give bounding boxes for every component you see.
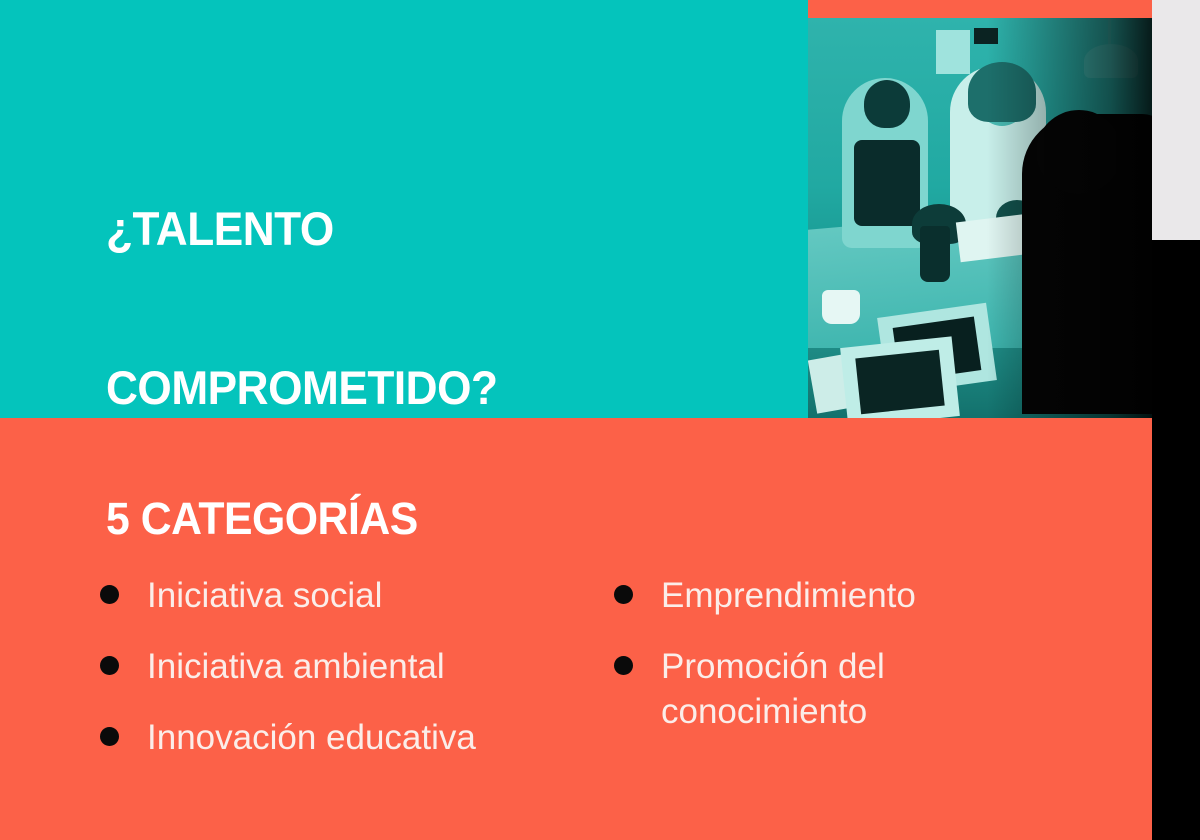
photo-vignette: [808, 18, 1152, 418]
categories-section: 5 CATEGORÍAS Iniciativa social Iniciativ…: [0, 418, 1152, 840]
list-item-label: Iniciativa social: [147, 573, 382, 618]
bullet-icon: [100, 585, 119, 604]
team-photo: [808, 18, 1152, 418]
list-item: Iniciativa ambiental: [100, 644, 600, 689]
list-item-label: Emprendimiento: [661, 573, 916, 618]
headline-line-2: COMPROMETIDO?: [106, 361, 620, 414]
poster-canvas: ¿TALENTO COMPROMETIDO? QUEREMOS RECONOCE…: [0, 0, 1200, 840]
list-item: Emprendimiento: [614, 573, 1084, 618]
list-item-label: Promoción del conocimiento: [661, 644, 1084, 734]
list-item-label: Innovación educativa: [147, 715, 476, 760]
bullet-icon: [614, 656, 633, 675]
categories-column-right: Emprendimiento Promoción del conocimient…: [614, 573, 1084, 760]
bullet-icon: [100, 656, 119, 675]
hero-band: ¿TALENTO COMPROMETIDO? QUEREMOS RECONOCE…: [0, 0, 808, 418]
list-item: Innovación educativa: [100, 715, 600, 760]
list-item: Promoción del conocimiento: [614, 644, 1084, 734]
photo-frame: [808, 0, 1152, 418]
list-item-label: Iniciativa ambiental: [147, 644, 445, 689]
right-rail-light: [1152, 0, 1200, 240]
categories-title: 5 CATEGORÍAS: [106, 496, 418, 541]
right-rail-dark: [1152, 240, 1200, 840]
categories-column-left: Iniciativa social Iniciativa ambiental I…: [100, 573, 600, 786]
list-item: Iniciativa social: [100, 573, 600, 618]
bullet-icon: [614, 585, 633, 604]
bullet-icon: [100, 727, 119, 746]
headline-line-1: ¿TALENTO: [106, 202, 620, 255]
